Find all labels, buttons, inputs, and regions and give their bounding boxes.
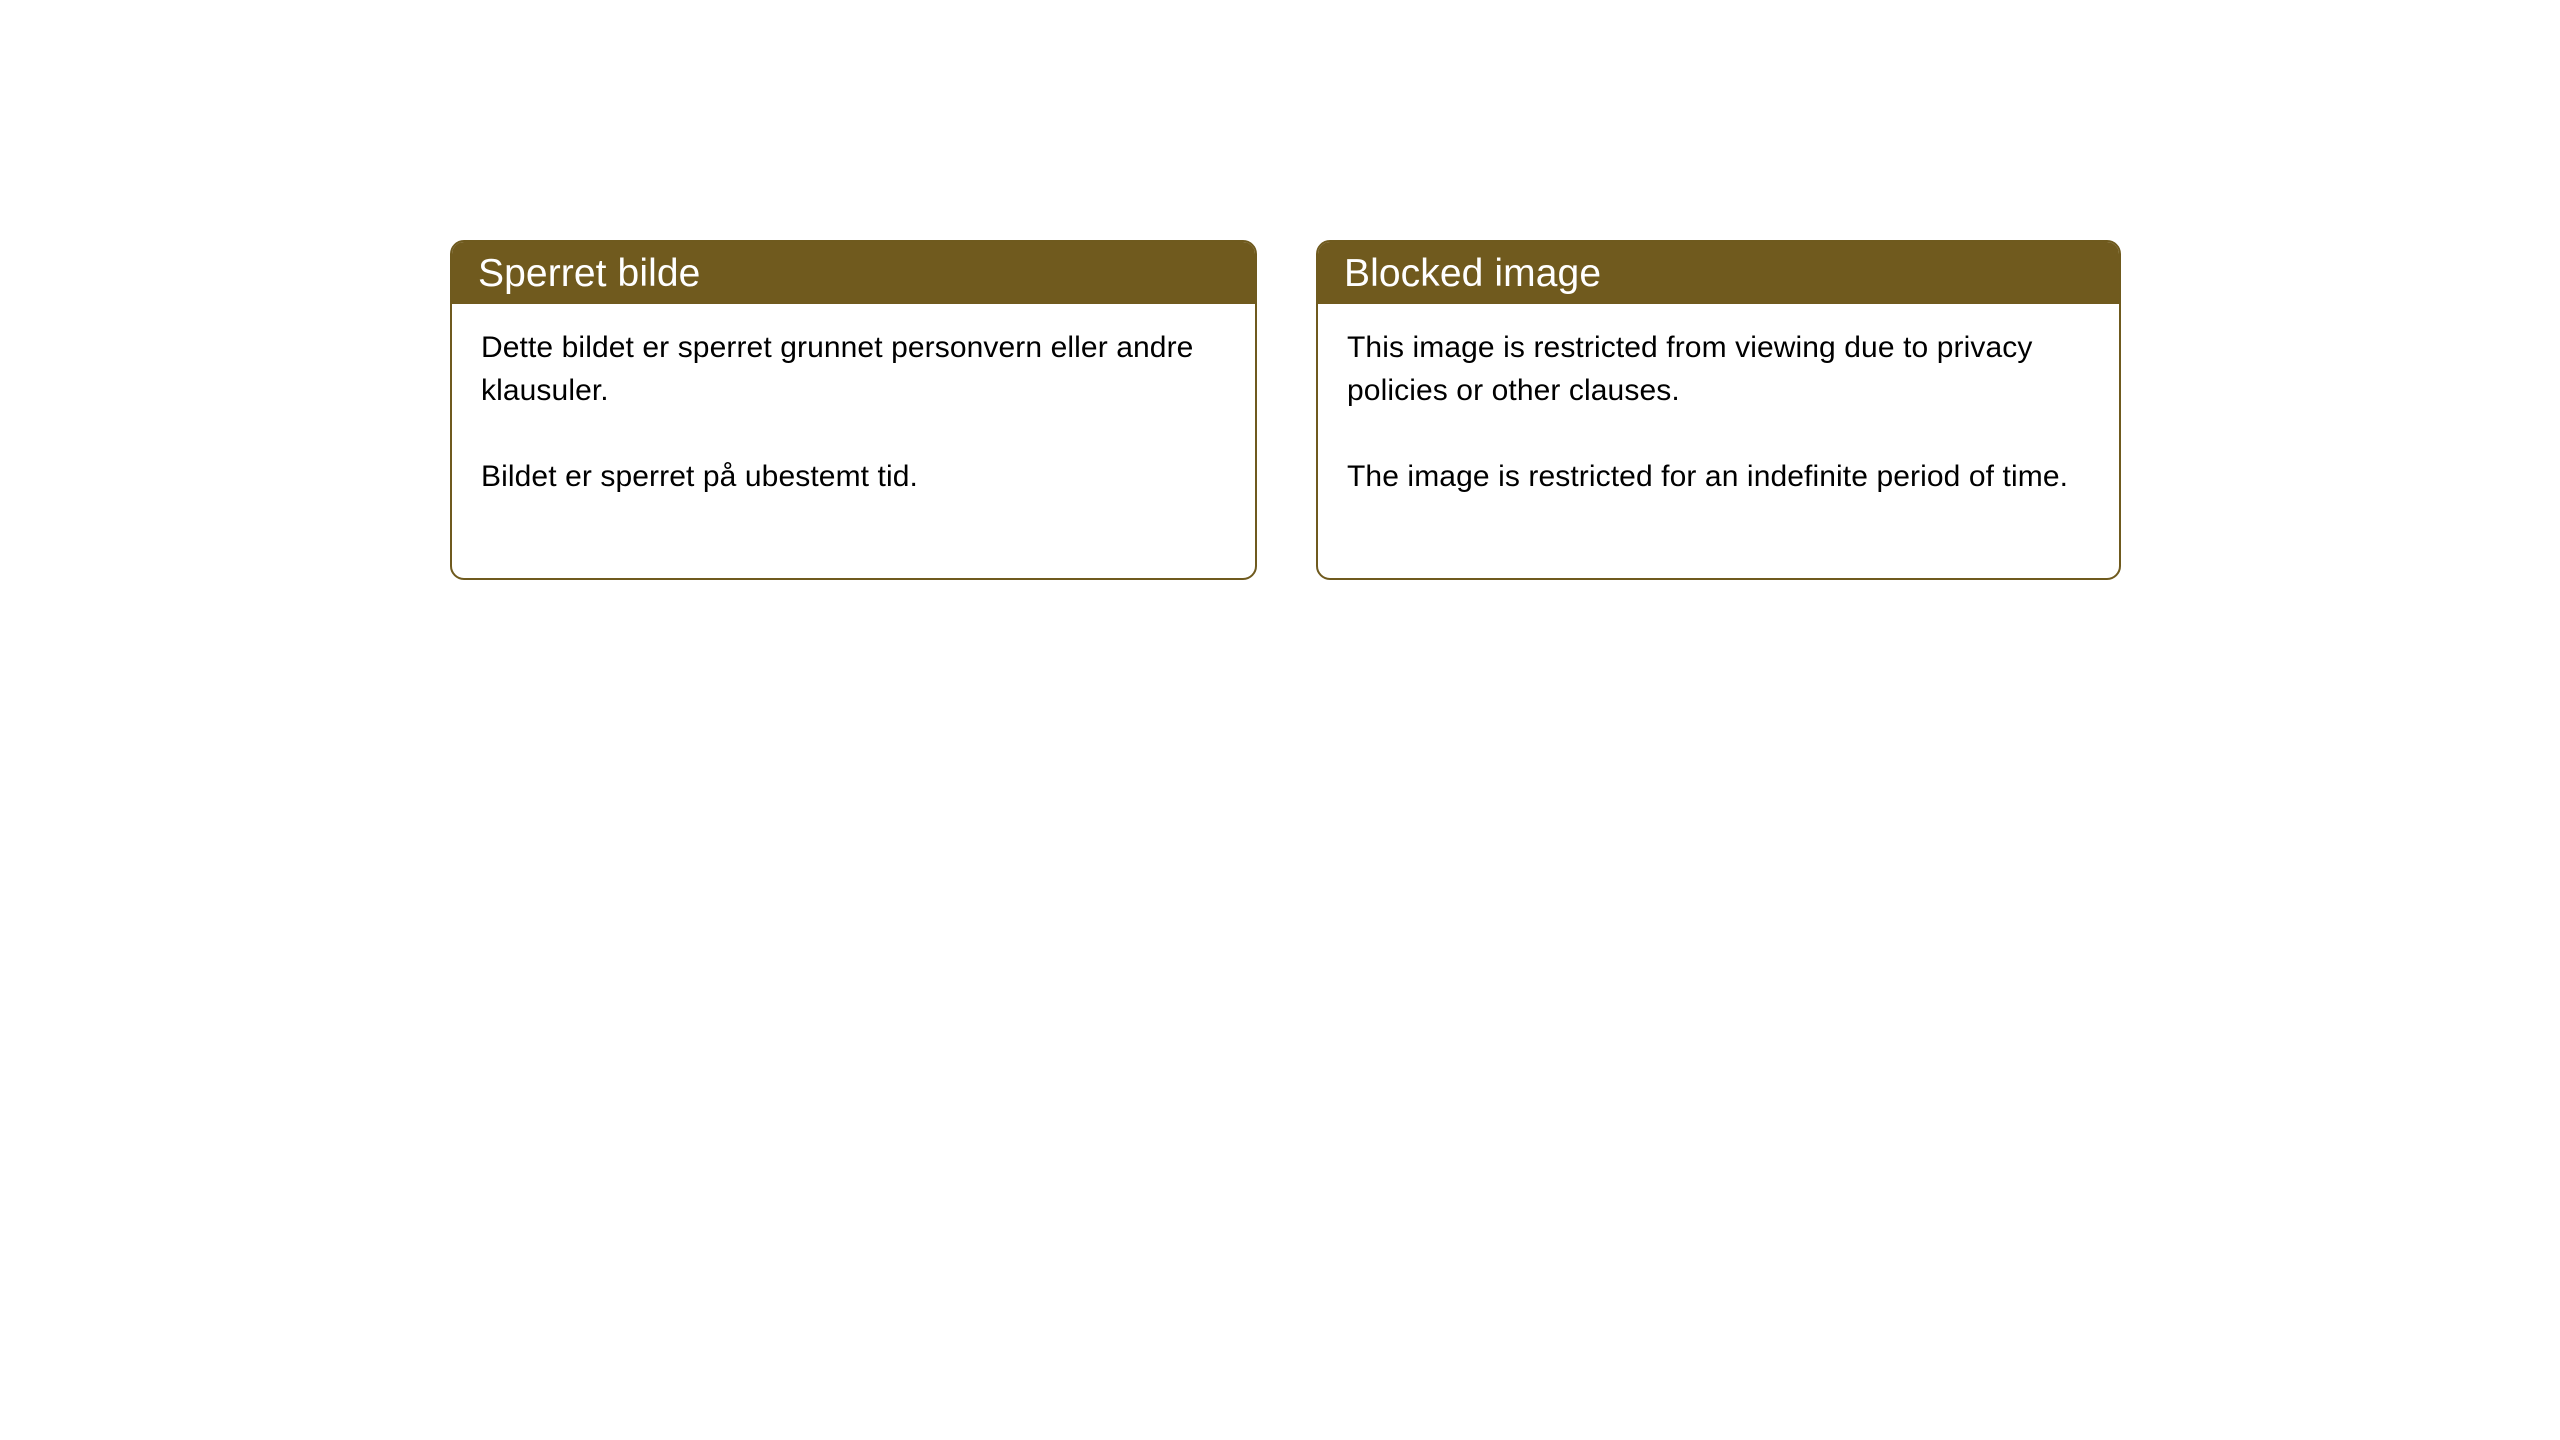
card-header-norwegian: Sperret bilde [452, 242, 1255, 304]
blocked-image-notice-english: Blocked image This image is restricted f… [1316, 240, 2121, 580]
page-canvas: Sperret bilde Dette bildet er sperret gr… [0, 0, 2560, 1440]
card-title-norwegian: Sperret bilde [478, 254, 700, 293]
blocked-image-notice-norwegian: Sperret bilde Dette bildet er sperret gr… [450, 240, 1257, 580]
card-header-english: Blocked image [1318, 242, 2119, 304]
card-title-english: Blocked image [1344, 254, 1601, 293]
card-body-norwegian: Dette bildet er sperret grunnet personve… [452, 304, 1255, 498]
card-paragraph-duration-english: The image is restricted for an indefinit… [1347, 455, 2093, 498]
card-paragraph-reason-norwegian: Dette bildet er sperret grunnet personve… [481, 326, 1229, 412]
card-body-english: This image is restricted from viewing du… [1318, 304, 2119, 498]
card-paragraph-duration-norwegian: Bildet er sperret på ubestemt tid. [481, 455, 1229, 498]
card-paragraph-reason-english: This image is restricted from viewing du… [1347, 326, 2093, 412]
